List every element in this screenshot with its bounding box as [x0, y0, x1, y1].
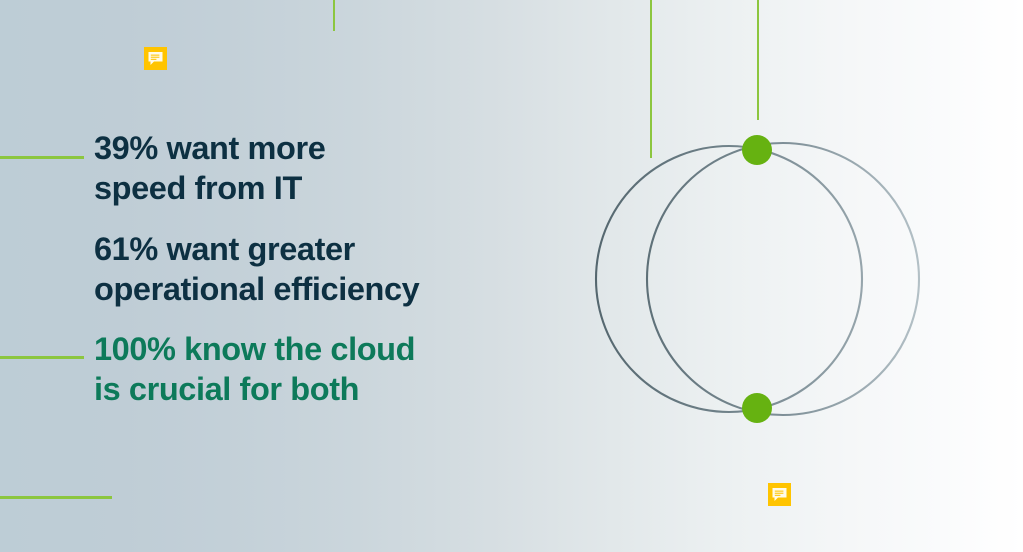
- slide-canvas: 39% want more speed from IT 61% want gre…: [0, 0, 1023, 552]
- stat-item-cloud: 100% know the cloud is crucial for both: [94, 329, 534, 410]
- speech-bubble-icon: [144, 47, 167, 70]
- accent-rule-middle: [0, 356, 84, 359]
- accent-rule-top: [0, 156, 84, 159]
- stat-item-speed: 39% want more speed from IT: [94, 128, 534, 209]
- venn-rings-graphic: [575, 110, 945, 440]
- ring-right: [647, 143, 919, 415]
- accent-rule-bottom: [0, 496, 112, 499]
- comment-badge-top: [144, 47, 167, 70]
- intersection-dot-top: [742, 135, 772, 165]
- speech-bubble-icon: [768, 483, 791, 506]
- ring-left: [596, 146, 862, 412]
- intersection-dot-bottom: [742, 393, 772, 423]
- stat-item-efficiency: 61% want greater operational efficiency: [94, 229, 534, 310]
- accent-vrule-left: [333, 0, 335, 31]
- stats-list: 39% want more speed from IT 61% want gre…: [94, 128, 534, 410]
- comment-badge-bottom: [768, 483, 791, 506]
- accent-vrule-right: [757, 0, 759, 120]
